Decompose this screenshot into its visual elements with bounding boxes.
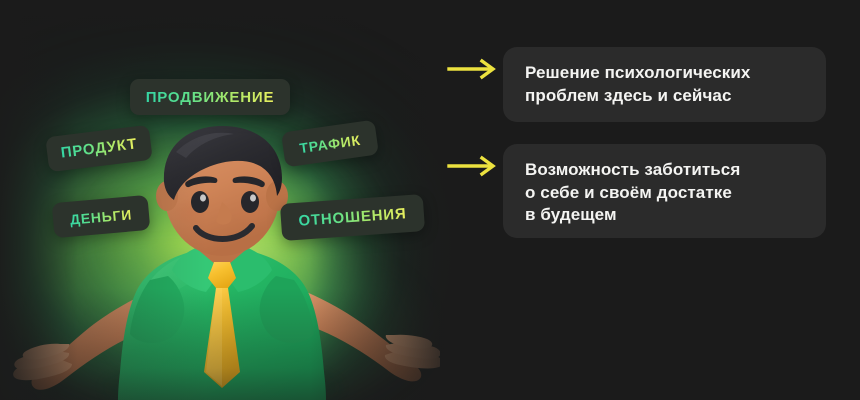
benefit-card-2: Возможность заботиться о себе и своём до…	[503, 144, 826, 238]
arrow-right-icon	[447, 58, 499, 80]
tag-label: ТРАФИК	[298, 131, 361, 155]
slide-root: ПРОДВИЖЕНИЕ ПРОДУКТ ТРАФИК ДЕНЬГИ ОТНОШЕ…	[0, 0, 860, 400]
tag-label: ДЕНЬГИ	[69, 206, 132, 227]
tag-label: ПРОДВИЖЕНИЕ	[146, 89, 275, 106]
benefits-panel: Решение психологических проблем здесь и …	[440, 0, 860, 400]
arrow-right-icon	[447, 155, 499, 177]
benefit-card-1: Решение психологических проблем здесь и …	[503, 47, 826, 122]
tag-label: ОТНОШЕНИЯ	[298, 205, 407, 230]
benefit-text: Возможность заботиться о себе и своём до…	[525, 159, 804, 227]
tag-label: ПРОДУКТ	[60, 135, 138, 161]
benefit-text: Решение психологических проблем здесь и …	[525, 62, 804, 107]
tag-prodvizhenie: ПРОДВИЖЕНИЕ	[130, 79, 290, 115]
